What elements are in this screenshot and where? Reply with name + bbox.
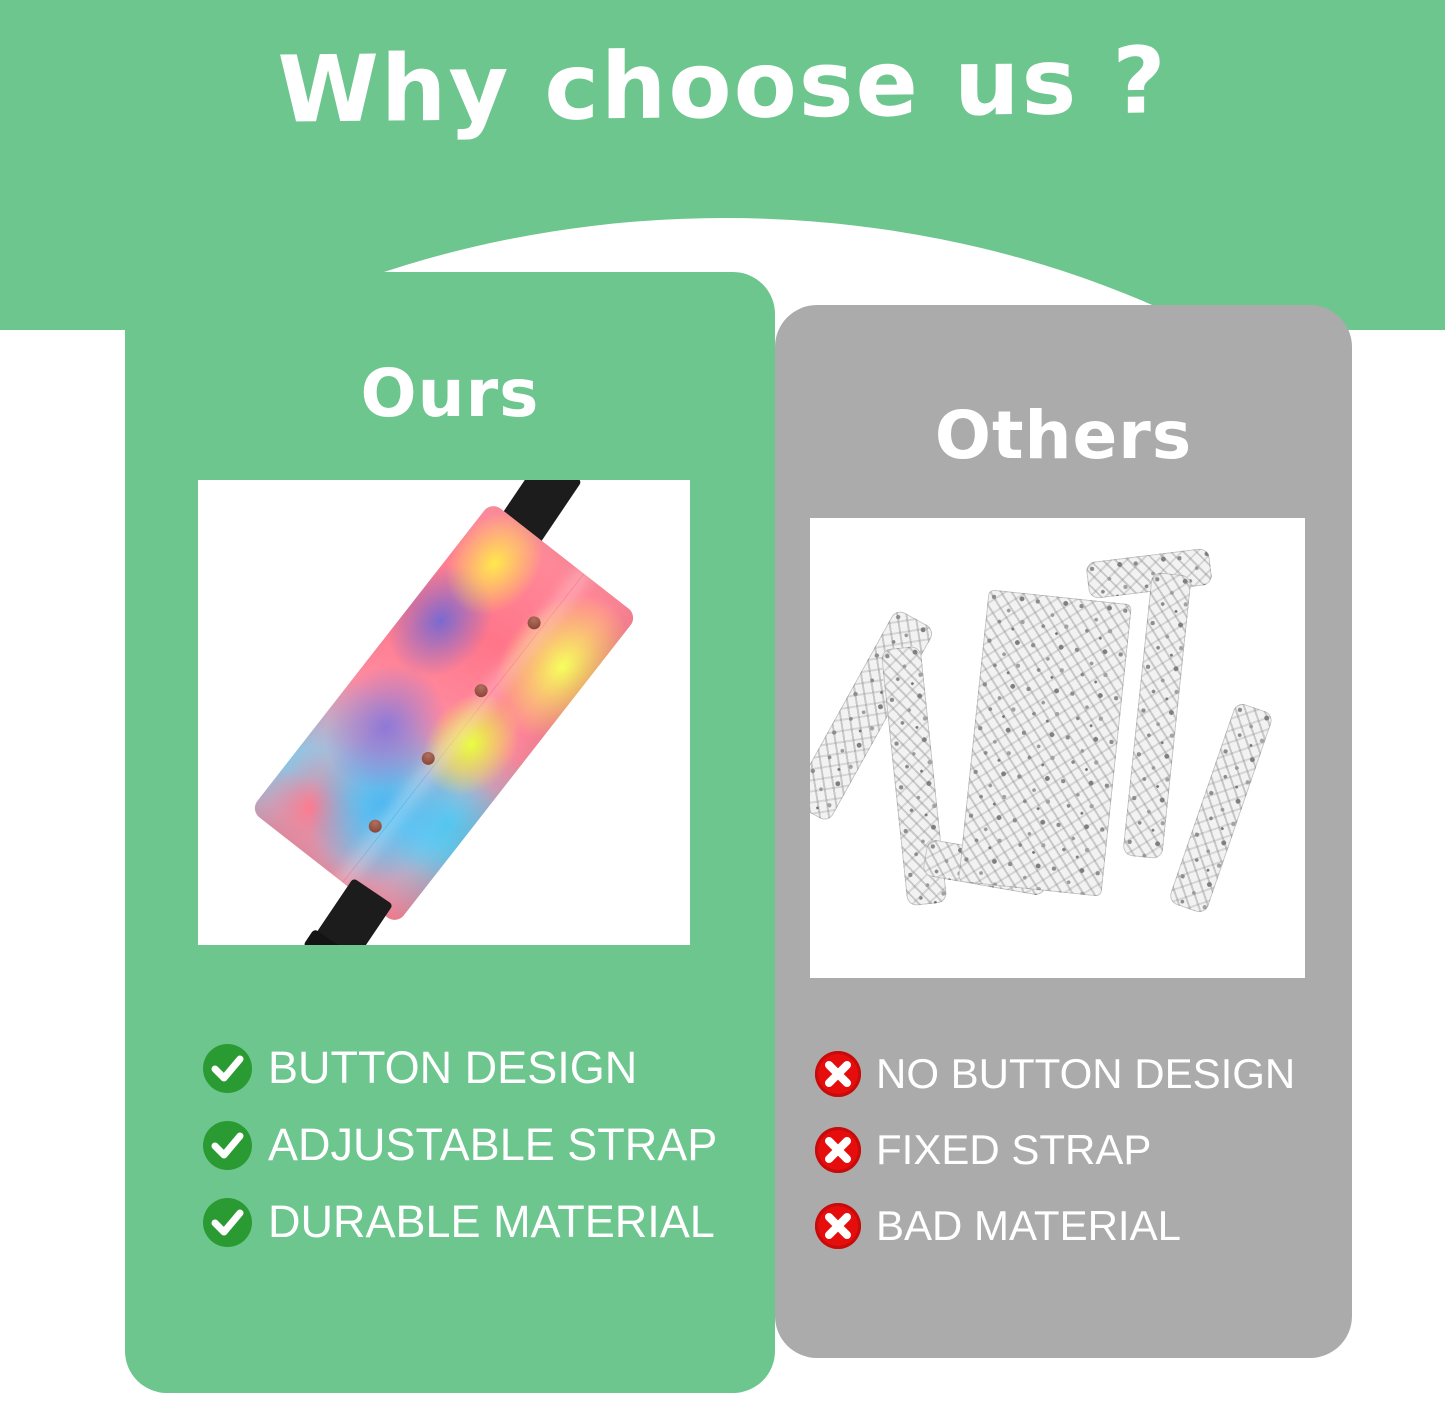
feature-label: FIXED STRAP: [876, 1126, 1151, 1174]
floral-strap-illustration: [810, 518, 1305, 978]
list-item: ADJUSTABLE STRAP: [203, 1119, 853, 1171]
ours-feature-list: BUTTON DESIGN ADJUSTABLE STRAP DURABLE M…: [125, 1042, 853, 1273]
fabric-fold-highlight: [342, 573, 584, 883]
floral-tie-f: [1168, 701, 1274, 914]
others-card: Others NO BUTTON DESIGN: [775, 305, 1352, 1358]
check-circle-icon: [203, 1044, 252, 1093]
tiedye-fabric-body: [250, 501, 638, 924]
feature-label: BUTTON DESIGN: [268, 1042, 637, 1094]
check-circle-icon: [203, 1198, 252, 1247]
check-circle-icon: [203, 1121, 252, 1170]
list-item: BAD MATERIAL: [815, 1202, 1392, 1250]
ours-card: Ours BUTTON DESIGN: [125, 272, 775, 1393]
list-item: FIXED STRAP: [815, 1126, 1392, 1174]
ours-heading: Ours: [125, 355, 775, 432]
feature-label: DURABLE MATERIAL: [268, 1196, 715, 1248]
list-item: DURABLE MATERIAL: [203, 1196, 853, 1248]
feature-label: NO BUTTON DESIGN: [876, 1050, 1295, 1098]
ours-product-photo: [198, 480, 690, 945]
floral-main-panel: [958, 589, 1132, 897]
others-product-photo: [810, 518, 1305, 978]
feature-label: ADJUSTABLE STRAP: [268, 1119, 717, 1171]
page-title: Why choose us ?: [0, 30, 1445, 142]
others-heading: Others: [775, 397, 1352, 474]
comparison-infographic: Why choose us ? Others NO: [0, 0, 1445, 1403]
list-item: NO BUTTON DESIGN: [815, 1050, 1392, 1098]
floral-tie-e: [1122, 572, 1191, 860]
others-feature-list: NO BUTTON DESIGN FIXED STRAP BAD MATERIA…: [775, 1050, 1392, 1278]
feature-label: BAD MATERIAL: [876, 1202, 1181, 1250]
tiedye-strap-illustration: [250, 501, 638, 924]
list-item: BUTTON DESIGN: [203, 1042, 853, 1094]
